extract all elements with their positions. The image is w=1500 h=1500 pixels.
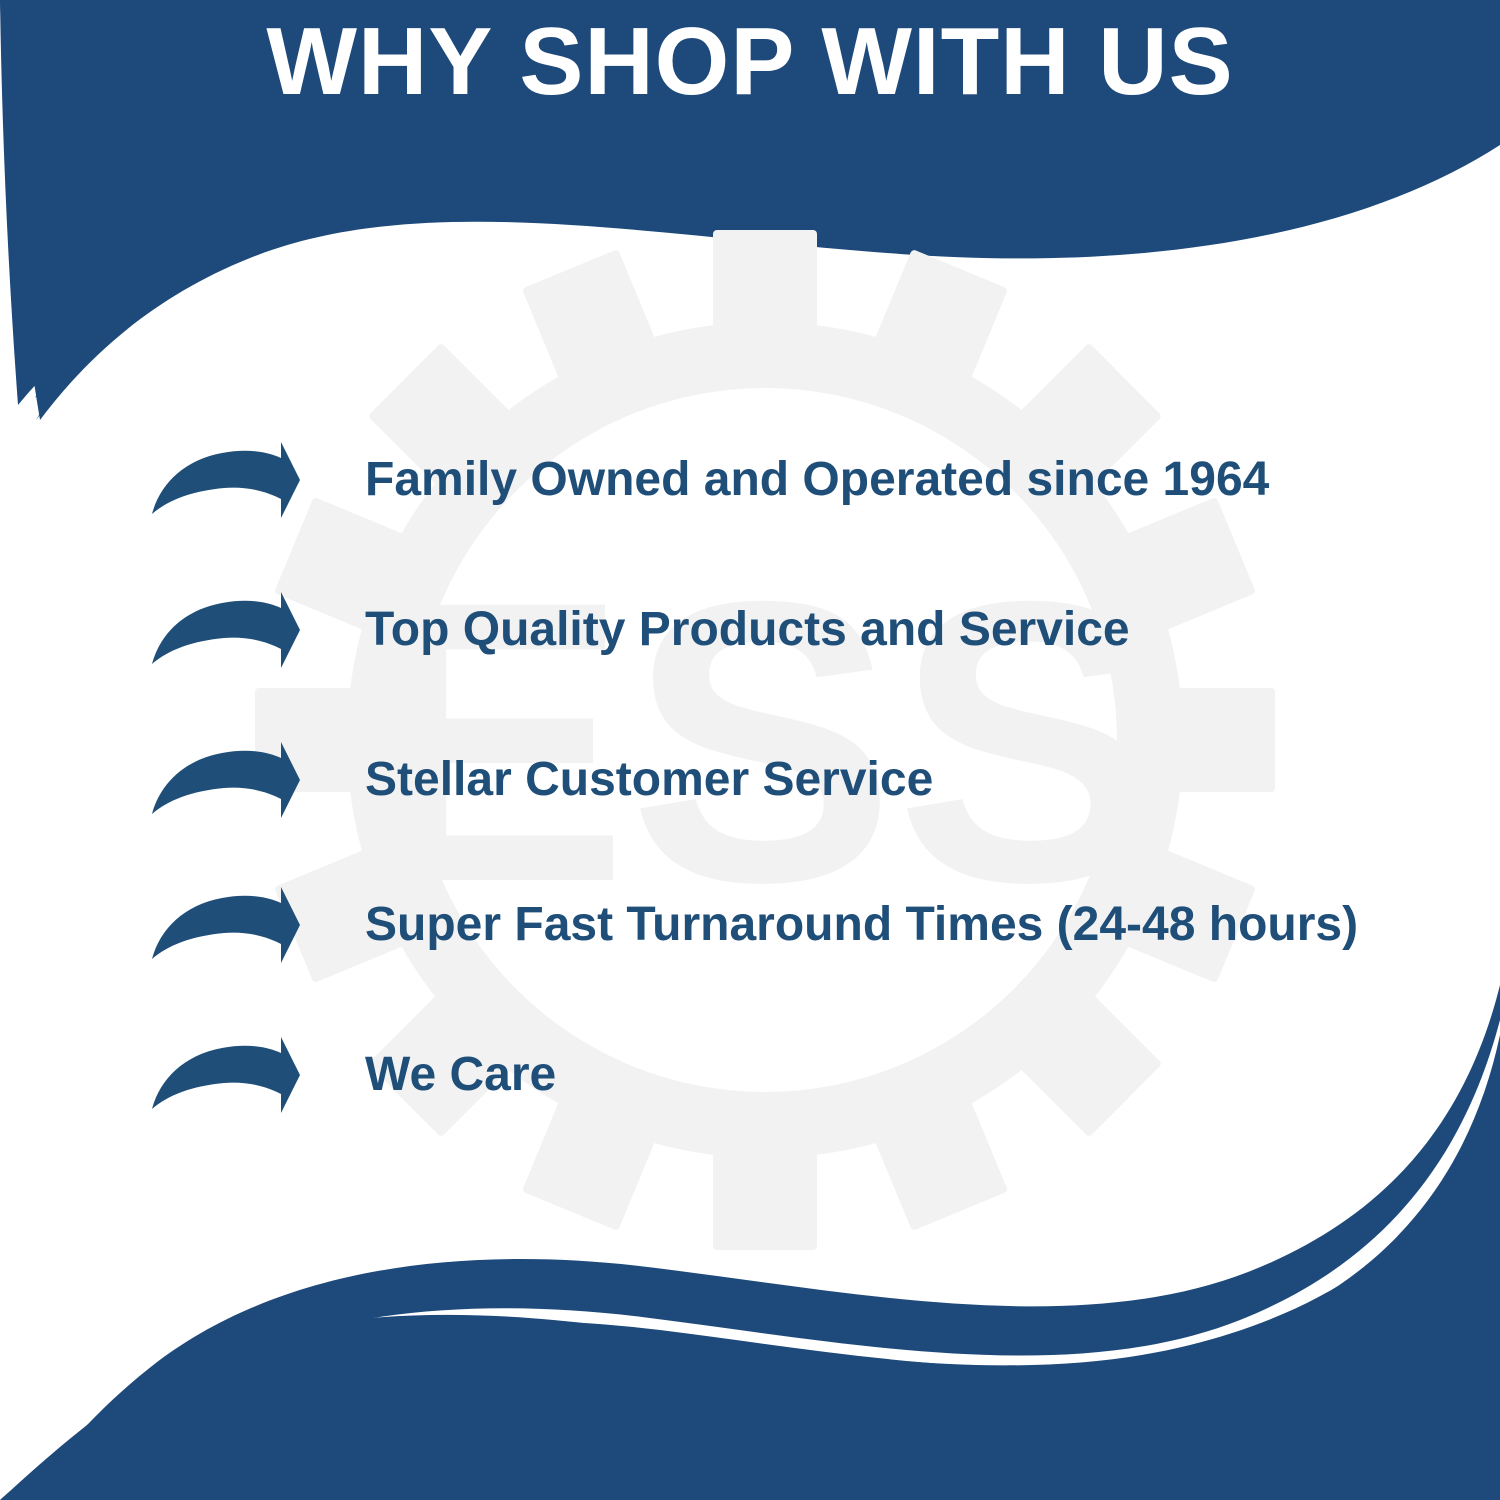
list-item-label: Stellar Customer Service bbox=[365, 755, 933, 805]
curved-arrow-right-icon bbox=[150, 440, 300, 520]
list-item: Family Owned and Operated since 1964 bbox=[150, 440, 1269, 520]
benefits-list: Family Owned and Operated since 1964 Top… bbox=[0, 0, 1500, 1500]
list-item: Stellar Customer Service bbox=[150, 740, 933, 820]
list-item-label: We Care bbox=[365, 1050, 556, 1100]
list-item: Super Fast Turnaround Times (24-48 hours… bbox=[150, 885, 1358, 965]
curved-arrow-right-icon bbox=[150, 740, 300, 820]
list-item-label: Top Quality Products and Service bbox=[365, 605, 1130, 655]
page-title: WHY SHOP WITH US bbox=[0, 14, 1500, 110]
curved-arrow-right-icon bbox=[150, 590, 300, 670]
list-item: We Care bbox=[150, 1035, 556, 1115]
list-item: Top Quality Products and Service bbox=[150, 590, 1130, 670]
list-item-label: Family Owned and Operated since 1964 bbox=[365, 455, 1269, 505]
list-item-label: Super Fast Turnaround Times (24-48 hours… bbox=[365, 900, 1358, 950]
curved-arrow-right-icon bbox=[150, 885, 300, 965]
curved-arrow-right-icon bbox=[150, 1035, 300, 1115]
promo-graphic-canvas: ESS WHY SHOP WITH US Family Owned and Op… bbox=[0, 0, 1500, 1500]
